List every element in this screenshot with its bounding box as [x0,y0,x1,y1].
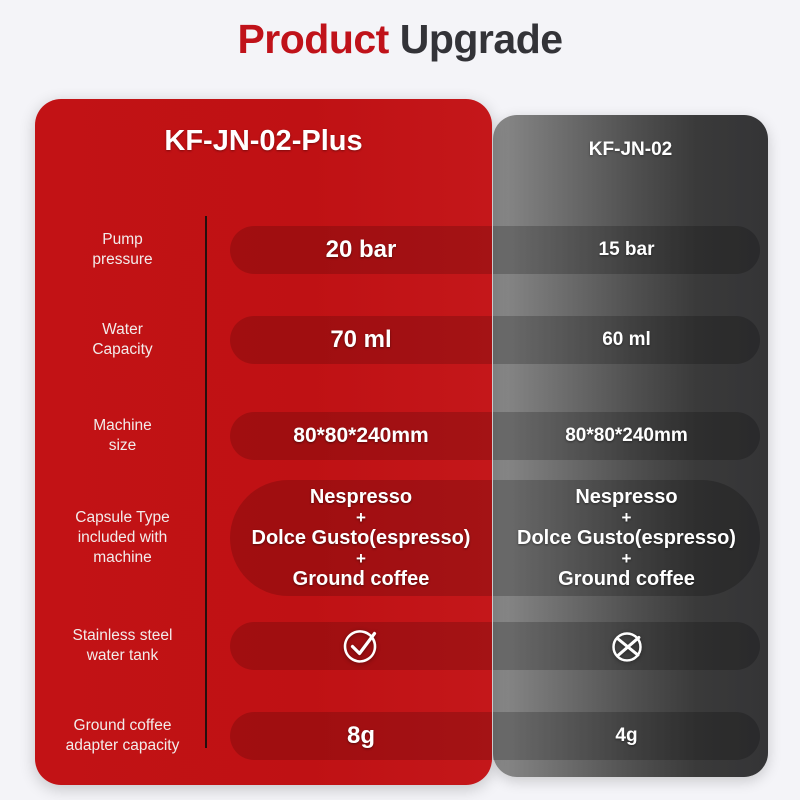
spec-label: Pump pressure [45,230,200,270]
spec-row-machine-size: Machine size 80*80*240mm 80*80*240mm [0,412,800,460]
primary-product-name: KF-JN-02-Plus [35,125,492,158]
spec-label: Machine size [45,416,200,456]
secondary-value: 60 ml [493,327,760,353]
spec-label: Water Capacity [45,320,200,360]
page-title-plain: Upgrade [389,16,563,62]
primary-value: 70 ml [230,327,492,353]
comparison-infographic: Product Upgrade KF-JN-02-Plus KF-JN-02 P… [0,0,800,800]
spec-label-line: Capsule Type [45,508,200,528]
spec-row-capsule-type: Capsule Type included with machine Nespr… [0,480,800,596]
primary-value-line: + [230,551,492,566]
spec-row-stainless-steel-water-tank: Stainless steel water tank [0,622,800,670]
secondary-value-line: Dolce Gusto(espresso) [493,525,760,551]
secondary-value: 15 bar [493,237,760,263]
primary-value: 80*80*240mm [230,423,492,449]
spec-row-pump-pressure: Pump pressure 20 bar 15 bar [0,226,800,274]
spec-label-line: machine [45,548,200,568]
page-title: Product Upgrade [0,16,800,63]
spec-row-water-capacity: Water Capacity 70 ml 60 ml [0,316,800,364]
spec-label-line: Capacity [45,340,200,360]
spec-label: Stainless steel water tank [45,626,200,666]
secondary-value: 4g [493,723,760,749]
secondary-value-line: Ground coffee [493,566,760,592]
page-title-accent: Product [237,16,388,62]
primary-value-line: + [230,510,492,525]
spec-label-line: included with [45,528,200,548]
spec-label-line: water tank [45,646,200,666]
spec-label-line: Stainless steel [45,626,200,646]
spec-label-line: Machine [45,416,200,436]
secondary-product-name: KF-JN-02 [493,139,768,161]
check-circle-icon [230,626,492,666]
secondary-value: Nespresso + Dolce Gusto(espresso) + Grou… [493,484,760,592]
primary-value: Nespresso + Dolce Gusto(espresso) + Grou… [230,484,492,592]
primary-value: 8g [230,723,492,749]
spec-label-line: Water [45,320,200,340]
spec-label-line: Ground coffee [45,716,200,736]
secondary-value-line: + [493,551,760,566]
primary-value-line: Ground coffee [230,566,492,592]
primary-value-line: Nespresso [230,484,492,510]
spec-row-ground-coffee-adapter-capacity: Ground coffee adapter capacity 8g 4g [0,712,800,760]
secondary-value: 80*80*240mm [493,423,760,449]
spec-label-line: size [45,436,200,456]
secondary-value-line: Nespresso [493,484,760,510]
spec-label: Capsule Type included with machine [45,508,200,568]
spec-label-line: pressure [45,250,200,270]
spec-label: Ground coffee adapter capacity [45,716,200,756]
primary-value: 20 bar [230,237,492,263]
spec-label-line: Pump [45,230,200,250]
spec-label-line: adapter capacity [45,736,200,756]
secondary-value-line: + [493,510,760,525]
primary-value-line: Dolce Gusto(espresso) [230,525,492,551]
cross-circle-icon [493,627,760,665]
